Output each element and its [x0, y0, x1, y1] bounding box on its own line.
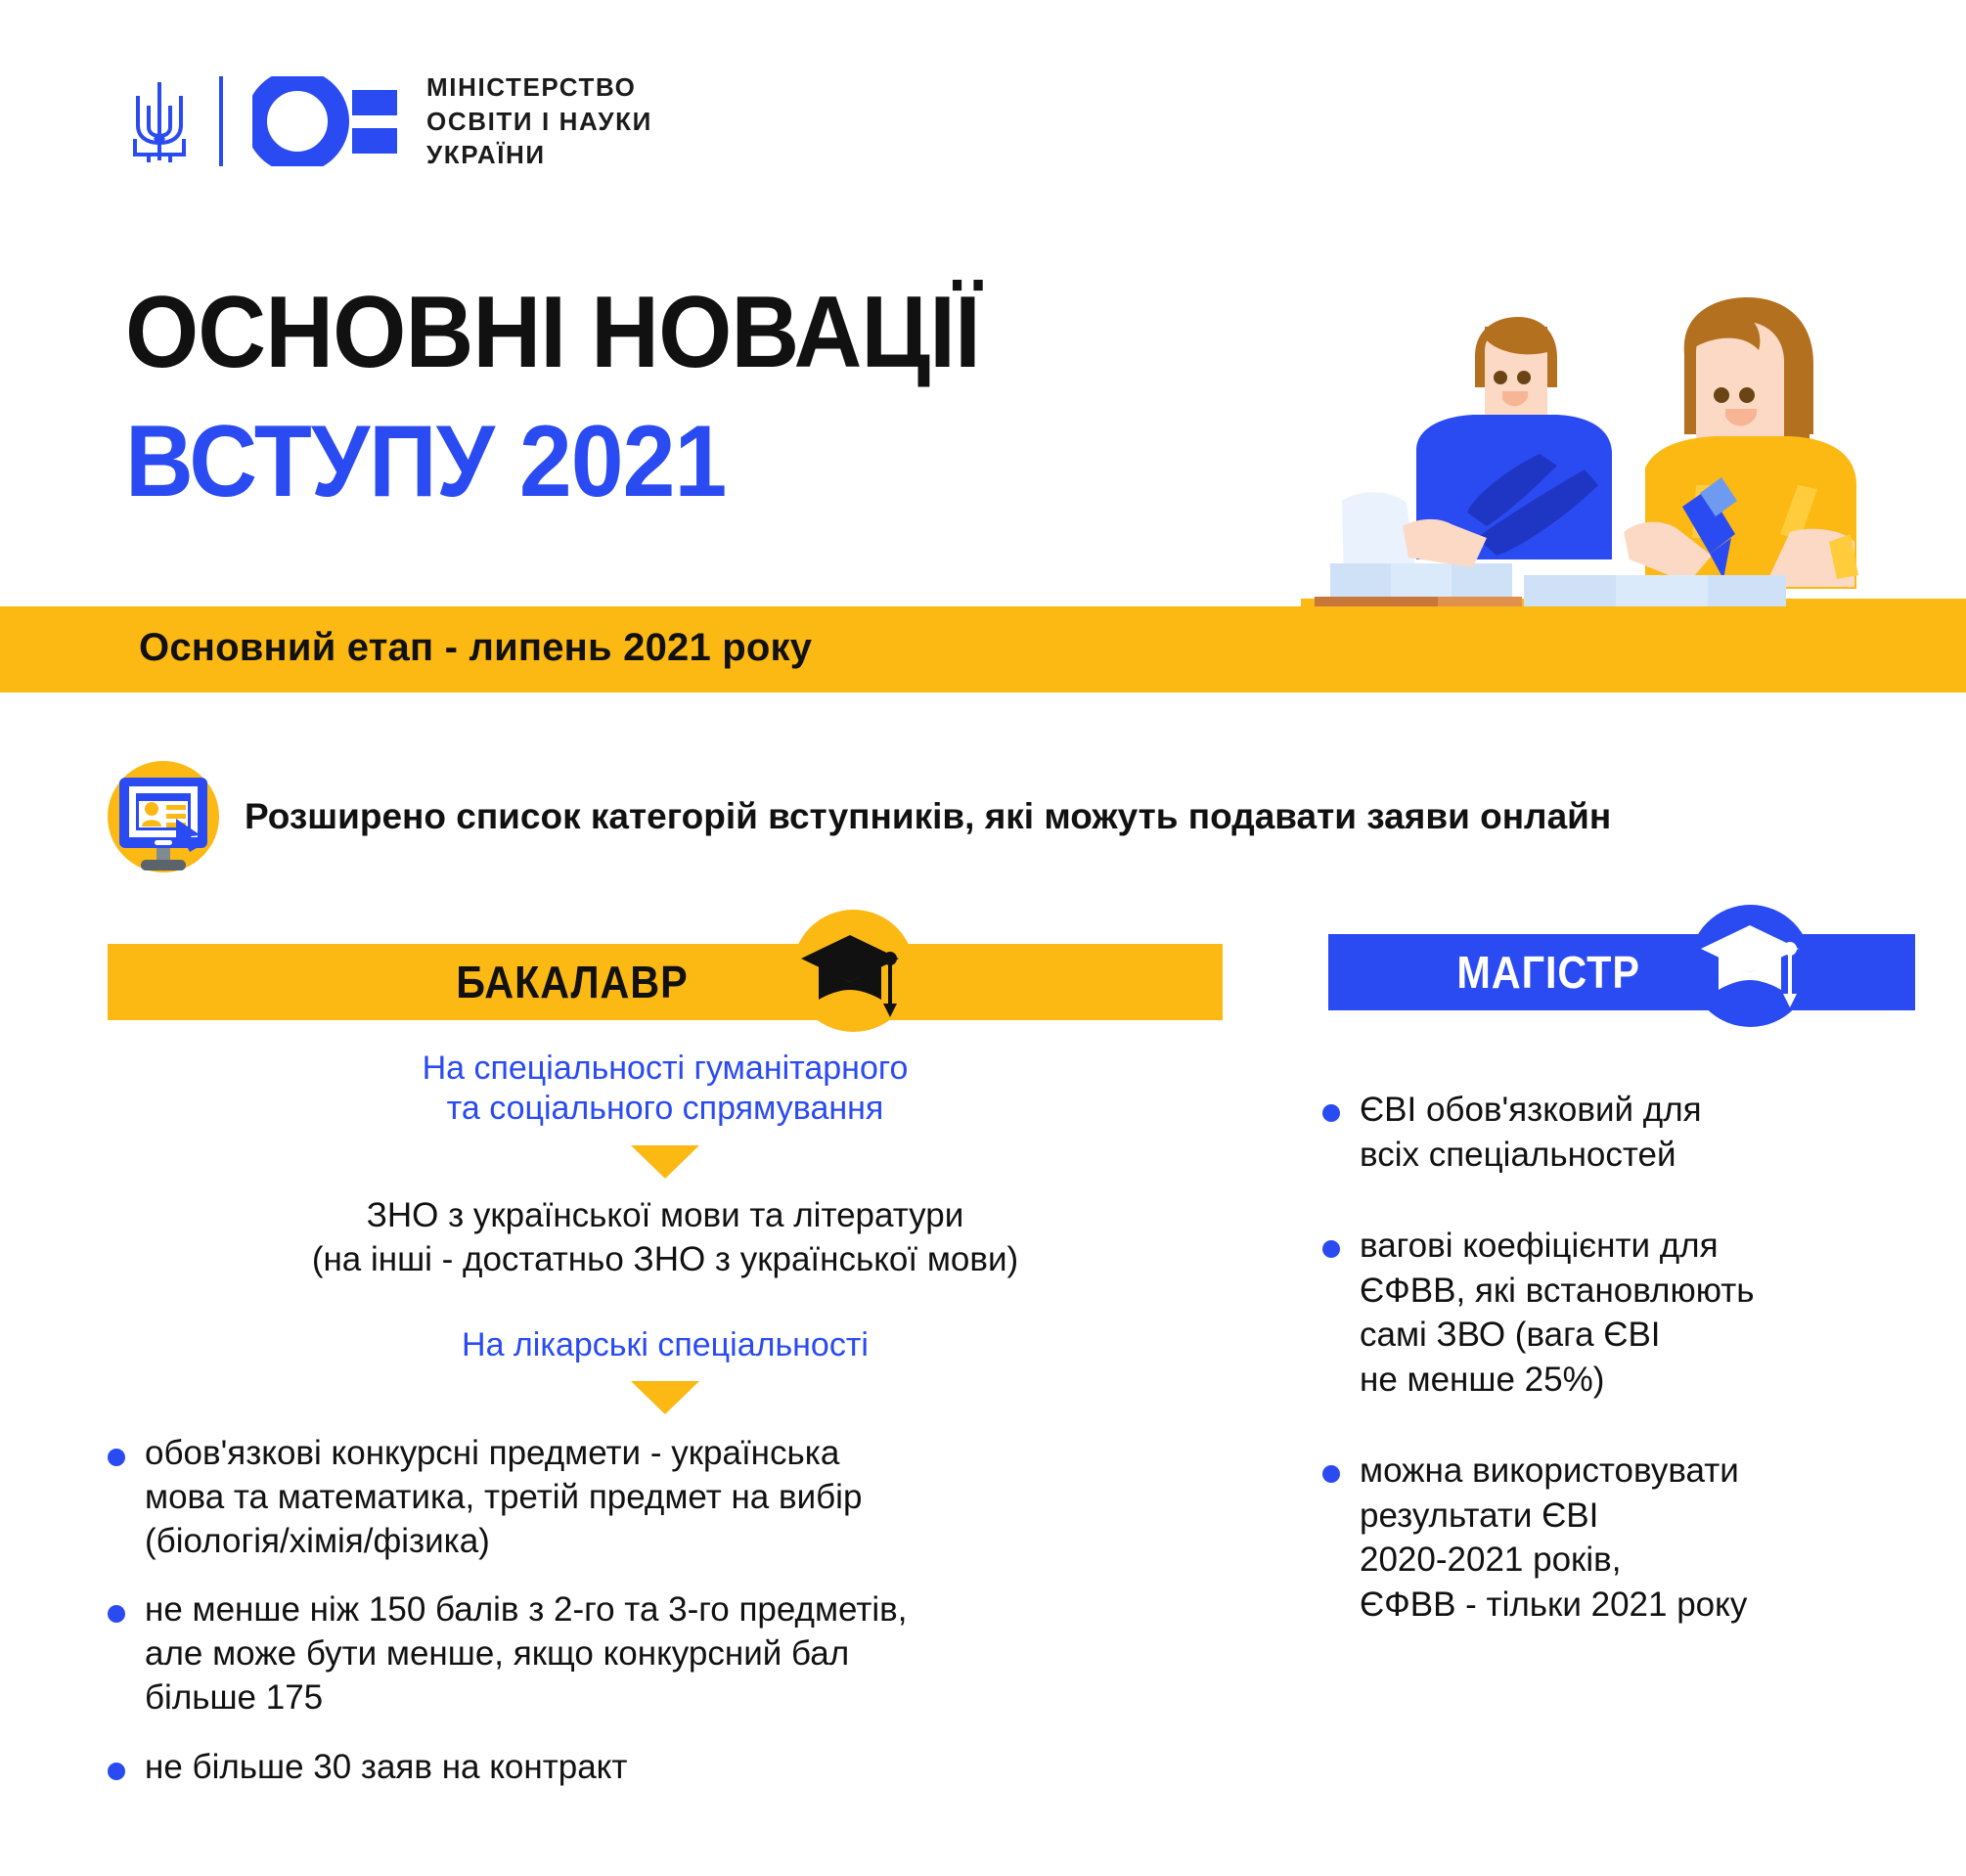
- ministry-name: МІНІСТЕРСТВО ОСВІТИ І НАУКИ УКРАЇНИ: [426, 70, 652, 172]
- page-title-line1: ОСНОВНІ НОВАЦІЇ: [125, 282, 980, 383]
- bullet-dot-icon: [1322, 1240, 1340, 1258]
- logo-divider: [219, 76, 223, 166]
- bachelor-header-bar: БАКАЛАВР: [108, 944, 1223, 1020]
- list-item: вагові коефіцієнти для ЄФВВ, які встанов…: [1322, 1224, 1948, 1402]
- mon-logo-icon: [252, 76, 399, 166]
- bullet-dot-icon: [1322, 1465, 1340, 1483]
- online-application-icon: [104, 758, 223, 875]
- list-item: обов'язкові конкурсні предмети - українс…: [108, 1432, 1223, 1563]
- master-header-label: МАГІСТР: [1456, 946, 1639, 999]
- page-title-line2: ВСТУПУ 2021: [125, 411, 726, 513]
- bachelor-body-1: ЗНО з української мови та літератури (на…: [108, 1194, 1223, 1282]
- bullet-text: не більше 30 заяв на контракт: [145, 1746, 627, 1790]
- main-stage-banner-text: Основний етап - липень 2021 року: [139, 626, 812, 670]
- trident-icon: [129, 76, 190, 166]
- bullet-dot-icon: [108, 1605, 125, 1623]
- graduation-cap-icon: [1697, 919, 1807, 1007]
- list-item: не менше ніж 150 балів з 2-го та 3-го пр…: [108, 1588, 1223, 1720]
- bullet-dot-icon: [108, 1449, 125, 1466]
- list-item: ЄВІ обов'язковий для всіх спеціальностей: [1322, 1088, 1948, 1177]
- bullet-dot-icon: [1322, 1104, 1340, 1122]
- bachelor-header-label: БАКАЛАВР: [456, 956, 688, 1008]
- online-applications-row: Розширено список категорій вступників, я…: [104, 758, 1611, 875]
- master-bullet-list: ЄВІ обов'язковий для всіх спеціальностей…: [1322, 1088, 1948, 1627]
- bullet-text: не менше ніж 150 балів з 2-го та 3-го пр…: [145, 1588, 907, 1720]
- arrow-down-icon: [631, 1381, 699, 1414]
- bullet-text: можна використовувати результати ЄВІ 202…: [1360, 1449, 1747, 1627]
- graduation-cap-icon: [797, 929, 907, 1017]
- list-item: можна використовувати результати ЄВІ 202…: [1322, 1449, 1948, 1627]
- bullet-dot-icon: [108, 1763, 125, 1780]
- online-applications-text: Розширено список категорій вступників, я…: [245, 796, 1611, 837]
- bullet-text: обов'язкові конкурсні предмети - українс…: [145, 1432, 862, 1563]
- bachelor-subhead-1: На спеціальності гуманітарного та соціал…: [108, 1049, 1223, 1130]
- bachelor-column: На спеціальності гуманітарного та соціал…: [108, 1049, 1223, 1815]
- bachelor-bullet-list: обов'язкові конкурсні предмети - українс…: [108, 1432, 1223, 1790]
- bullet-text: ЄВІ обов'язковий для всіх спеціальностей: [1360, 1088, 1702, 1177]
- master-header-bar: МАГІСТР: [1328, 934, 1915, 1010]
- arrow-down-icon: [631, 1145, 699, 1179]
- list-item: не більше 30 заяв на контракт: [108, 1746, 1223, 1790]
- ministry-logo: МІНІСТЕРСТВО ОСВІТИ І НАУКИ УКРАЇНИ: [129, 70, 652, 172]
- infographic-page: МІНІСТЕРСТВО ОСВІТИ І НАУКИ УКРАЇНИ ОСНО…: [0, 0, 1966, 1876]
- master-column: ЄВІ обов'язковий для всіх спеціальностей…: [1322, 1088, 1948, 1674]
- bachelor-subhead-2: На лікарські спеціальності: [108, 1325, 1223, 1365]
- bullet-text: вагові коефіцієнти для ЄФВВ, які встанов…: [1360, 1224, 1754, 1402]
